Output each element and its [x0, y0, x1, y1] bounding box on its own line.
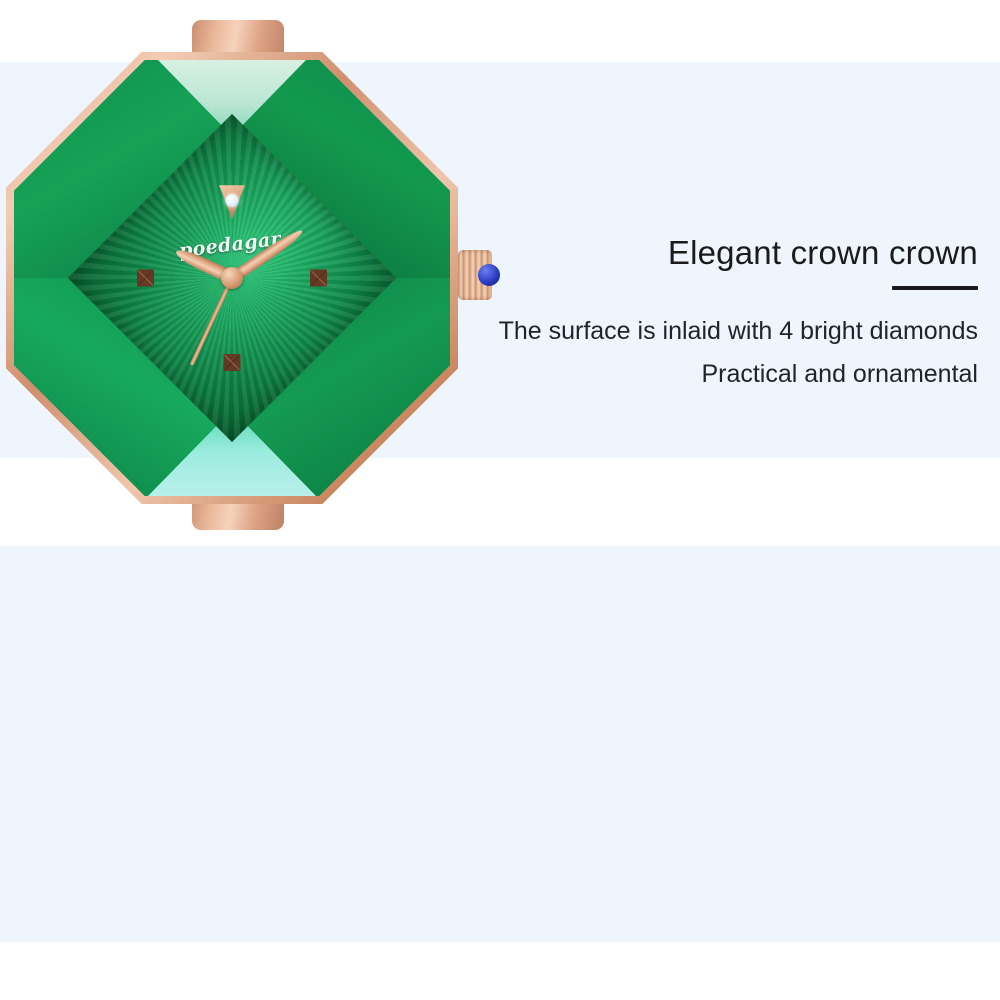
crown-panel-underline	[892, 286, 978, 290]
crown-feature-panel: poedagar Elegant crown crown The surface…	[0, 62, 1000, 458]
crown-panel-description: The surface is inlaid with 4 bright diam…	[358, 310, 978, 396]
hour-marker-3-icon	[310, 270, 327, 287]
strap-feature-panel: Original Comfort Strap currency Classic …	[0, 546, 1000, 942]
hour-marker-9-icon	[137, 270, 154, 287]
hour-marker-12-diamond-icon	[219, 185, 245, 219]
crown-panel-line-1: The surface is inlaid with 4 bright diam…	[358, 310, 978, 353]
hour-marker-6-icon	[224, 354, 241, 371]
crown-panel-headline: Elegant crown crown	[358, 234, 978, 272]
product-detail-page: poedagar Elegant crown crown The surface…	[0, 0, 1000, 1000]
watch-dial: poedagar	[68, 114, 396, 442]
watch-hand-pinion	[221, 267, 243, 289]
crown-panel-line-2: Practical and ornamental	[358, 353, 978, 396]
watch-second-hand	[190, 277, 234, 366]
crown-panel-copy: Elegant crown crown The surface is inlai…	[358, 234, 978, 396]
